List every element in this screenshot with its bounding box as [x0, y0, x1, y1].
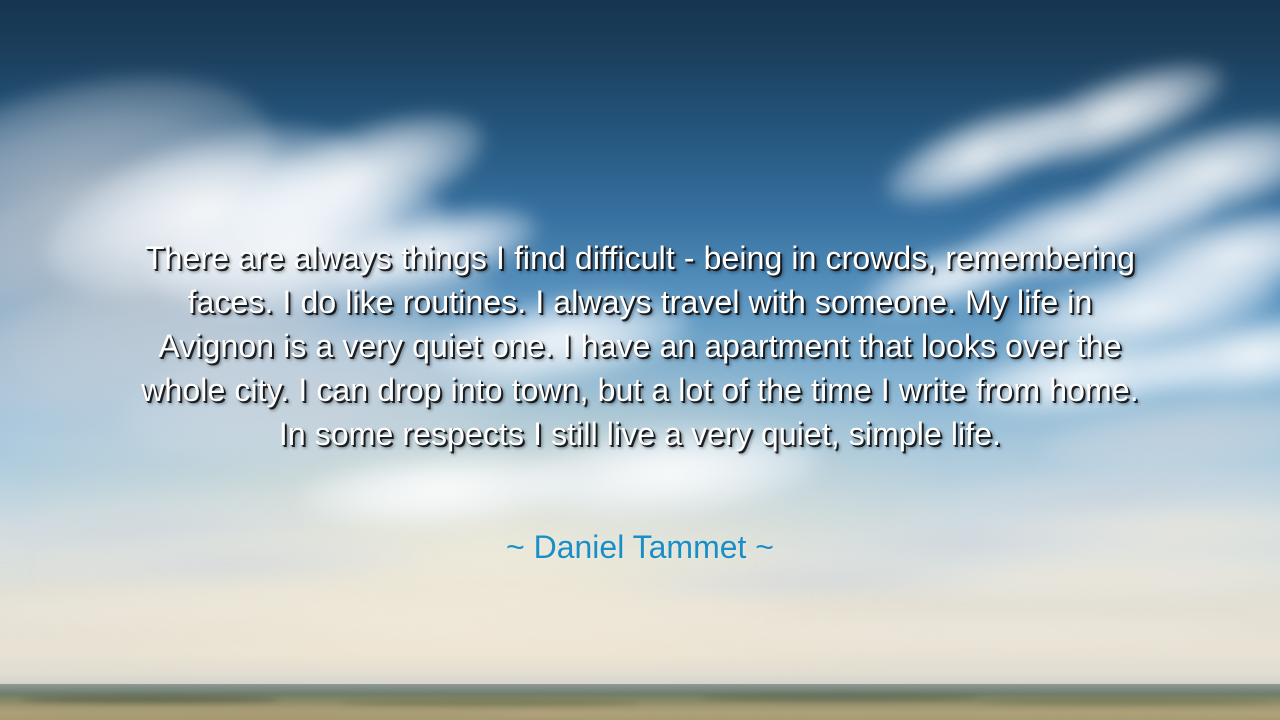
land-texture [700, 694, 980, 701]
land-texture [980, 699, 1270, 705]
author-block: ~ Daniel Tammet ~ [0, 528, 1280, 566]
quote-block: There are always things I find difficult… [0, 236, 1280, 456]
landscape-strip [0, 684, 1280, 720]
land-texture [340, 700, 640, 706]
quote-text: There are always things I find difficult… [140, 236, 1140, 456]
land-texture [0, 710, 520, 718]
land-texture [20, 696, 280, 703]
cloud-shape [700, 615, 1260, 647]
quote-card: There are always things I find difficult… [0, 0, 1280, 720]
author-attribution: ~ Daniel Tammet ~ [0, 528, 1280, 566]
land-texture [560, 712, 1280, 720]
